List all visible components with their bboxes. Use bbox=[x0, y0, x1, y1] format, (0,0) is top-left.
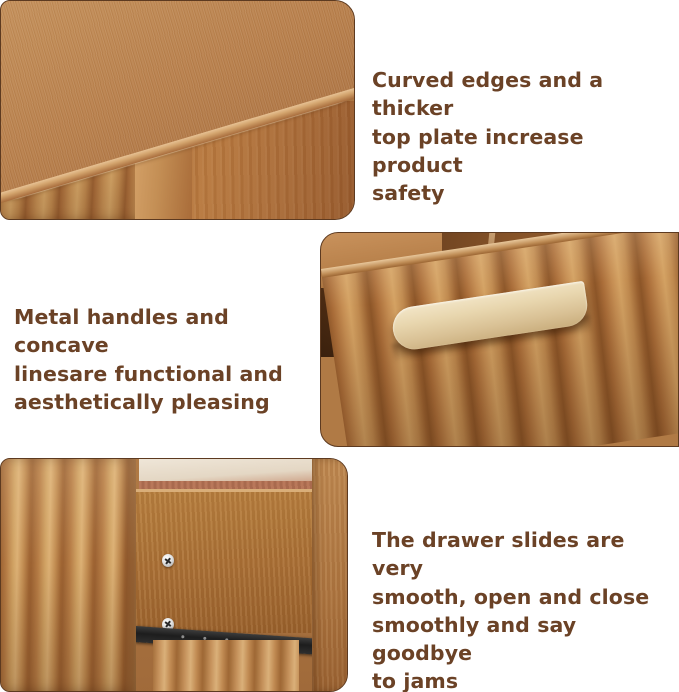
drawer-slide-photo bbox=[0, 458, 348, 692]
caption-drawer-slides: The drawer slides are very smooth, open … bbox=[372, 526, 672, 692]
lower-fluted-drawer bbox=[153, 640, 298, 691]
phillips-screw-upper-icon bbox=[162, 554, 174, 567]
fluted-side-panel bbox=[1, 459, 136, 691]
caption-curved-edges: Curved edges and a thicker top plate inc… bbox=[372, 66, 672, 207]
top-left-corner-photo bbox=[0, 0, 355, 220]
cabinet-right-post bbox=[312, 459, 347, 691]
caption-metal-handles: Metal handles and concave linesare funct… bbox=[14, 303, 314, 416]
drawer-handle-photo bbox=[320, 232, 679, 447]
infographic-page: Curved edges and a thicker top plate inc… bbox=[0, 0, 679, 692]
